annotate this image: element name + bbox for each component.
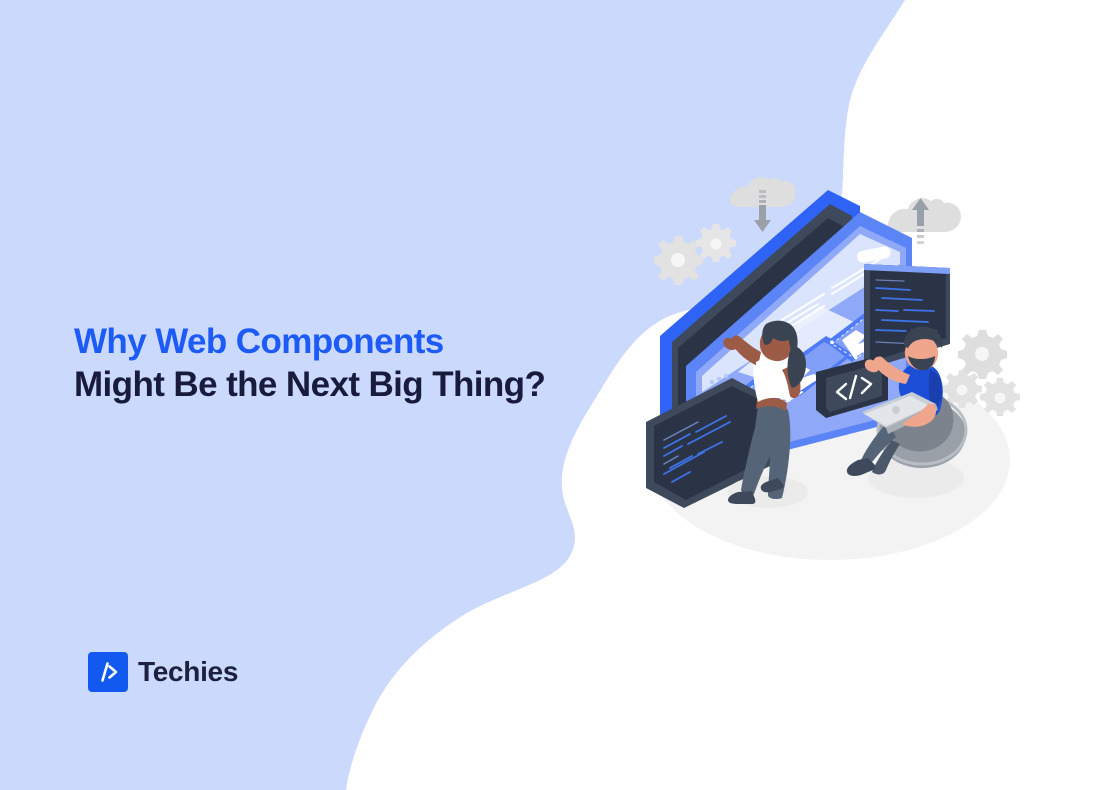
- gear-small-left: [696, 224, 736, 262]
- hero-illustration: [620, 160, 1040, 560]
- brand-name-label: Techies: [138, 656, 238, 688]
- gear-large-right: [958, 330, 1007, 379]
- banner-root: Why Web Components Might Be the Next Big…: [0, 0, 1100, 790]
- page-title: Why Web Components Might Be the Next Big…: [74, 324, 545, 402]
- headline-line-1: Why Web Components: [74, 324, 545, 359]
- gear-small-right-b: [980, 378, 1020, 416]
- headline-line-2: Might Be the Next Big Thing?: [74, 367, 545, 402]
- code-bracket-icon: [88, 652, 128, 692]
- cloud-download: [730, 177, 796, 232]
- gear-large-left: [654, 236, 703, 285]
- brand-logo[interactable]: Techies: [88, 652, 238, 692]
